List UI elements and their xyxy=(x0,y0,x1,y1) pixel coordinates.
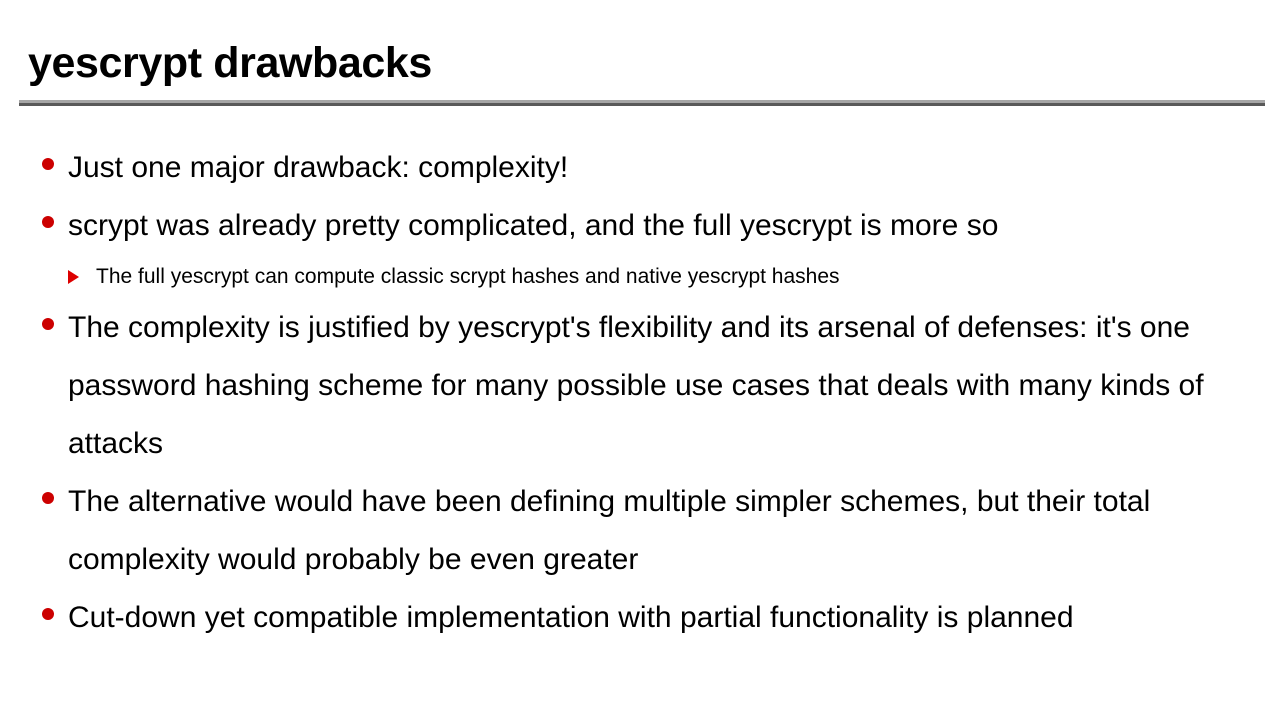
list-item: scrypt was already pretty complicated, a… xyxy=(34,197,1264,255)
sub-bullet-text: The full yescrypt can compute classic sc… xyxy=(96,255,1264,299)
red-disc-bullet-icon xyxy=(42,492,54,504)
red-disc-bullet-icon xyxy=(42,216,54,228)
bullet-text: scrypt was already pretty complicated, a… xyxy=(68,197,1264,255)
title-divider-shadow xyxy=(19,103,1265,106)
slide-body: Just one major drawback: complexity! scr… xyxy=(34,139,1264,647)
red-triangle-bullet-icon xyxy=(68,270,79,284)
bullet-list: Just one major drawback: complexity! scr… xyxy=(34,139,1264,647)
red-disc-bullet-icon xyxy=(42,158,54,170)
list-item: The complexity is justified by yescrypt'… xyxy=(34,299,1264,473)
sub-bullet-list: The full yescrypt can compute classic sc… xyxy=(34,255,1264,299)
bullet-text: The alternative would have been defining… xyxy=(68,473,1264,589)
list-item: The full yescrypt can compute classic sc… xyxy=(63,255,1264,299)
red-disc-bullet-icon xyxy=(42,318,54,330)
page-title: yescrypt drawbacks xyxy=(28,38,432,88)
bullet-text: Just one major drawback: complexity! xyxy=(68,139,1264,197)
list-item: Cut-down yet compatible implementation w… xyxy=(34,589,1264,647)
bullet-text: The complexity is justified by yescrypt'… xyxy=(68,299,1264,473)
presentation-slide: yescrypt drawbacks Just one major drawba… xyxy=(0,0,1280,720)
bullet-text: Cut-down yet compatible implementation w… xyxy=(68,589,1264,647)
list-item: The alternative would have been defining… xyxy=(34,473,1264,589)
list-item: Just one major drawback: complexity! xyxy=(34,139,1264,197)
red-disc-bullet-icon xyxy=(42,608,54,620)
